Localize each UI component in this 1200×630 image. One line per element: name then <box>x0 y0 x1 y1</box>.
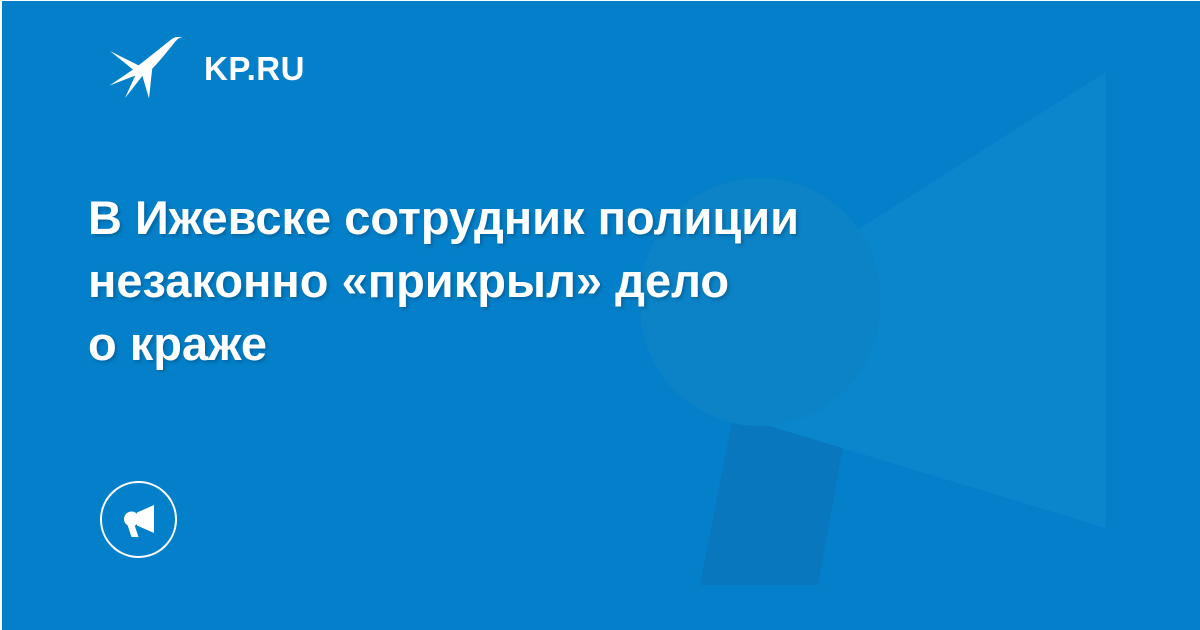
news-share-card: KP.RU В Ижевске сотрудник полиции незако… <box>0 0 1200 630</box>
brand-name-label: KP.RU <box>204 52 305 85</box>
headline-line-3: о краже <box>88 312 1028 375</box>
megaphone-icon <box>118 499 160 541</box>
megaphone-handle-shape <box>700 380 855 585</box>
megaphone-badge[interactable] <box>100 481 177 558</box>
headline-line-1: В Ижевске сотрудник полиции <box>88 186 1028 249</box>
top-edge-rule <box>0 0 1200 1</box>
brand-logo[interactable]: KP.RU <box>108 38 305 98</box>
left-edge-rule <box>0 0 2 630</box>
headline: В Ижевске сотрудник полиции незаконно «п… <box>88 186 1028 375</box>
headline-line-2: незаконно «прикрыл» дело <box>88 249 1028 312</box>
swallow-bird-icon <box>108 37 184 99</box>
